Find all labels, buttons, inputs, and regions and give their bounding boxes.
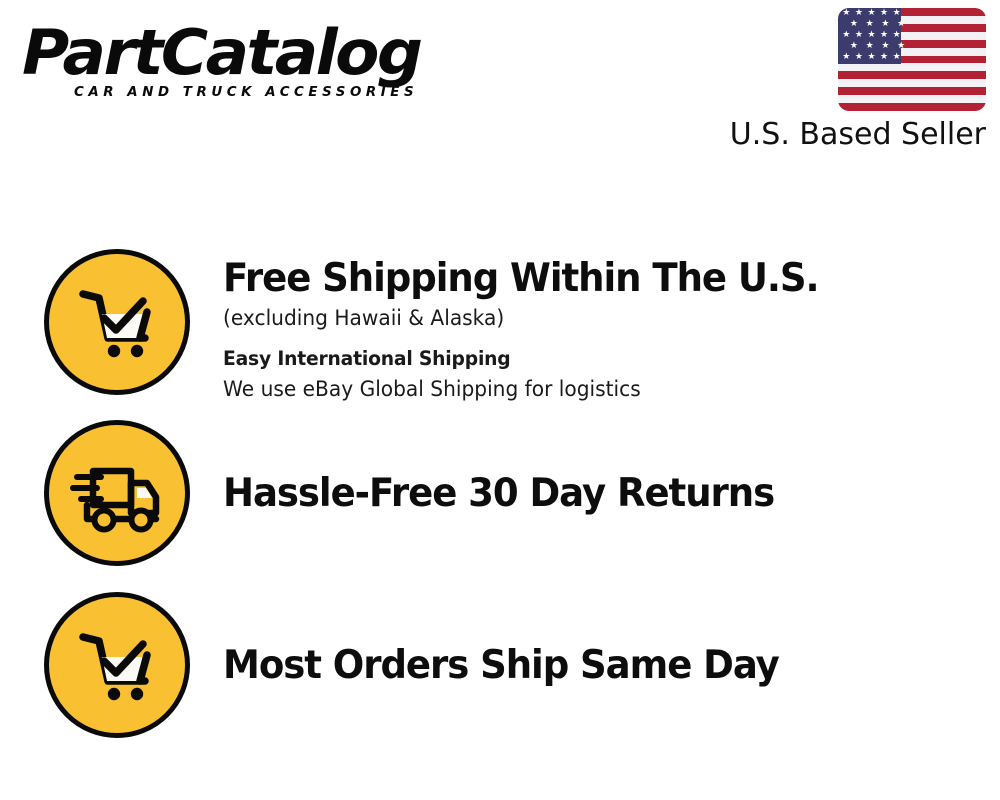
feature-text-block: Most Orders Ship Same Day xyxy=(223,592,1000,690)
star-icon: ★ xyxy=(855,9,863,18)
flag-star-row: ★★★★★ xyxy=(838,52,905,63)
star-icon: ★ xyxy=(881,20,889,29)
star-icon: ★ xyxy=(866,42,874,51)
star-icon: ★ xyxy=(893,53,901,62)
feature-row: Most Orders Ship Same Day xyxy=(0,592,1000,747)
star-icon: ★ xyxy=(850,20,858,29)
star-icon: ★ xyxy=(850,42,858,51)
feature-heading: Most Orders Ship Same Day xyxy=(223,642,961,690)
flag-stripe xyxy=(838,79,986,87)
feature-heading: Hassle-Free 30 Day Returns xyxy=(223,470,961,518)
flag-star-row: ★★★★ xyxy=(838,19,917,30)
star-icon: ★ xyxy=(842,9,850,18)
flag-canton: ★★★★★ ★★★★ ★★★★★ ★★★★ ★★★★★ xyxy=(838,8,901,64)
feature-subnote: (excluding Hawaii & Alaska) xyxy=(223,303,969,334)
star-icon: ★ xyxy=(867,31,875,40)
feature-row: Hassle-Free 30 Day Returns xyxy=(0,420,1000,575)
flag-stripe xyxy=(838,95,986,103)
star-icon: ★ xyxy=(893,31,901,40)
us-based-seller-label: U.S. Based Seller xyxy=(716,117,986,152)
star-icon: ★ xyxy=(881,42,889,51)
star-icon: ★ xyxy=(855,53,863,62)
brand-logo[interactable]: PartCatalog CAR AND TRUCK ACCESSORIES xyxy=(22,18,492,118)
flag-stripe xyxy=(838,103,986,111)
shopping-cart-check-icon xyxy=(44,592,190,738)
star-icon: ★ xyxy=(893,9,901,18)
star-icon: ★ xyxy=(842,31,850,40)
feature-text-block: Hassle-Free 30 Day Returns xyxy=(223,420,1000,518)
flag-stripe xyxy=(838,87,986,95)
star-icon: ★ xyxy=(867,53,875,62)
flag-star-row: ★★★★ xyxy=(838,41,917,52)
flag-star-row: ★★★★★ xyxy=(838,30,905,41)
feature-text-block: Free Shipping Within The U.S. (excluding… xyxy=(223,249,1000,405)
flag-stripe xyxy=(838,63,986,71)
star-icon: ★ xyxy=(897,42,905,51)
star-icon: ★ xyxy=(880,31,888,40)
star-icon: ★ xyxy=(897,20,905,29)
star-icon: ★ xyxy=(866,20,874,29)
flag-star-row: ★★★★★ xyxy=(838,8,905,19)
page-header: PartCatalog CAR AND TRUCK ACCESSORIES ★★… xyxy=(0,0,1000,170)
star-icon: ★ xyxy=(842,53,850,62)
star-icon: ★ xyxy=(880,53,888,62)
feature-heading: Free Shipping Within The U.S. xyxy=(223,255,961,303)
brand-tagline: CAR AND TRUCK ACCESSORIES xyxy=(74,84,488,100)
shopping-cart-check-icon xyxy=(44,249,190,395)
star-icon: ★ xyxy=(867,9,875,18)
flag-stripe xyxy=(838,71,986,79)
star-icon: ★ xyxy=(880,9,888,18)
us-based-seller-badge: ★★★★★ ★★★★ ★★★★★ ★★★★ ★★★★★ U.S. Based S… xyxy=(716,8,986,152)
delivery-truck-icon xyxy=(44,420,190,566)
feature-row: Free Shipping Within The U.S. (excluding… xyxy=(0,249,1000,409)
brand-wordmark: PartCatalog xyxy=(22,18,511,88)
feature-subheading: Easy International Shipping xyxy=(223,343,969,374)
star-icon: ★ xyxy=(855,31,863,40)
feature-subdetail: We use eBay Global Shipping for logistic… xyxy=(223,374,969,405)
us-flag-icon: ★★★★★ ★★★★ ★★★★★ ★★★★ ★★★★★ xyxy=(838,8,986,111)
